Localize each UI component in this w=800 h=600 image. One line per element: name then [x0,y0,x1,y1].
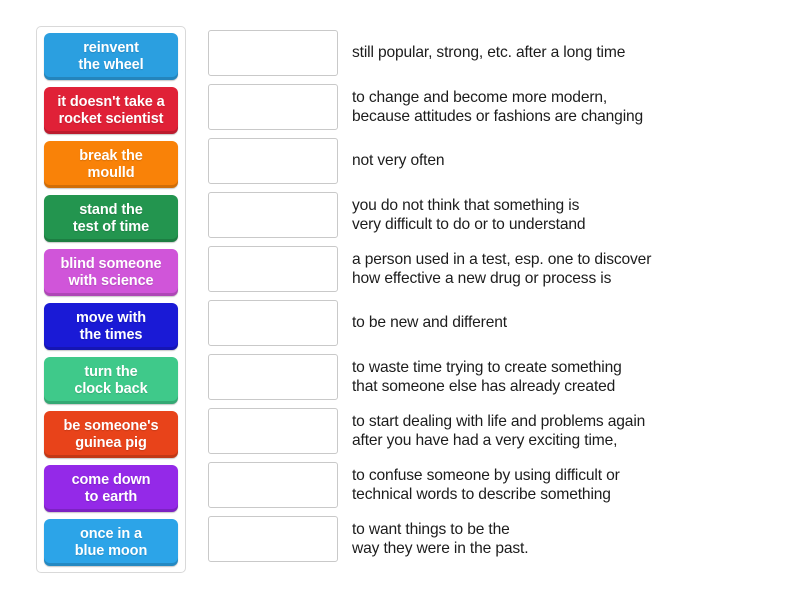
answer-row: you do not think that something is very … [208,192,792,238]
drop-zone[interactable] [208,300,338,346]
answer-row: to be new and different [208,300,792,346]
drop-zone[interactable] [208,516,338,562]
word-tile-label: be someone's guinea pig [64,418,159,450]
word-tile-label: turn the clock back [74,364,147,396]
tile-tray: reinvent the wheelit doesn't take a rock… [36,26,186,573]
definition-text: you do not think that something is very … [352,192,792,238]
drop-zone[interactable] [208,408,338,454]
word-tile[interactable]: reinvent the wheel [44,33,178,80]
definition-text: a person used in a test, esp. one to dis… [352,246,792,292]
word-tile[interactable]: break the moulld [44,141,178,188]
answer-row: to waste time trying to create something… [208,354,792,400]
answer-list: still popular, strong, etc. after a long… [208,26,792,562]
definition-text: to confuse someone by using difficult or… [352,462,792,508]
word-tile-label: it doesn't take a rocket scientist [57,94,164,126]
answer-row: to change and become more modern, becaus… [208,84,792,130]
word-tile-label: break the moulld [79,148,143,180]
drop-zone[interactable] [208,84,338,130]
definition-text: to want things to be the way they were i… [352,516,792,562]
word-tile-label: move with the times [76,310,146,342]
answer-row: a person used in a test, esp. one to dis… [208,246,792,292]
answer-row: still popular, strong, etc. after a long… [208,30,792,76]
word-tile-label: blind someone with science [60,256,161,288]
word-tile[interactable]: come down to earth [44,465,178,512]
word-tile-label: come down to earth [72,472,151,504]
drop-zone[interactable] [208,192,338,238]
drop-zone[interactable] [208,462,338,508]
answer-row: to confuse someone by using difficult or… [208,462,792,508]
definition-text: not very often [352,138,792,184]
definition-text: still popular, strong, etc. after a long… [352,30,792,76]
word-tile[interactable]: stand the test of time [44,195,178,242]
answer-row: to want things to be the way they were i… [208,516,792,562]
word-tile-label: once in a blue moon [75,526,147,558]
word-tile[interactable]: turn the clock back [44,357,178,404]
drop-zone[interactable] [208,354,338,400]
drop-zone[interactable] [208,30,338,76]
match-up-activity: reinvent the wheelit doesn't take a rock… [0,0,800,600]
drop-zone[interactable] [208,138,338,184]
definition-text: to start dealing with life and problems … [352,408,792,454]
word-tile[interactable]: once in a blue moon [44,519,178,566]
answer-row: not very often [208,138,792,184]
drop-zone[interactable] [208,246,338,292]
definition-text: to be new and different [352,300,792,346]
definition-text: to waste time trying to create something… [352,354,792,400]
word-tile-label: stand the test of time [73,202,149,234]
word-tile[interactable]: be someone's guinea pig [44,411,178,458]
word-tile[interactable]: it doesn't take a rocket scientist [44,87,178,134]
word-tile[interactable]: blind someone with science [44,249,178,296]
word-tile-label: reinvent the wheel [78,40,143,72]
answer-row: to start dealing with life and problems … [208,408,792,454]
definition-text: to change and become more modern, becaus… [352,84,792,130]
word-tile[interactable]: move with the times [44,303,178,350]
